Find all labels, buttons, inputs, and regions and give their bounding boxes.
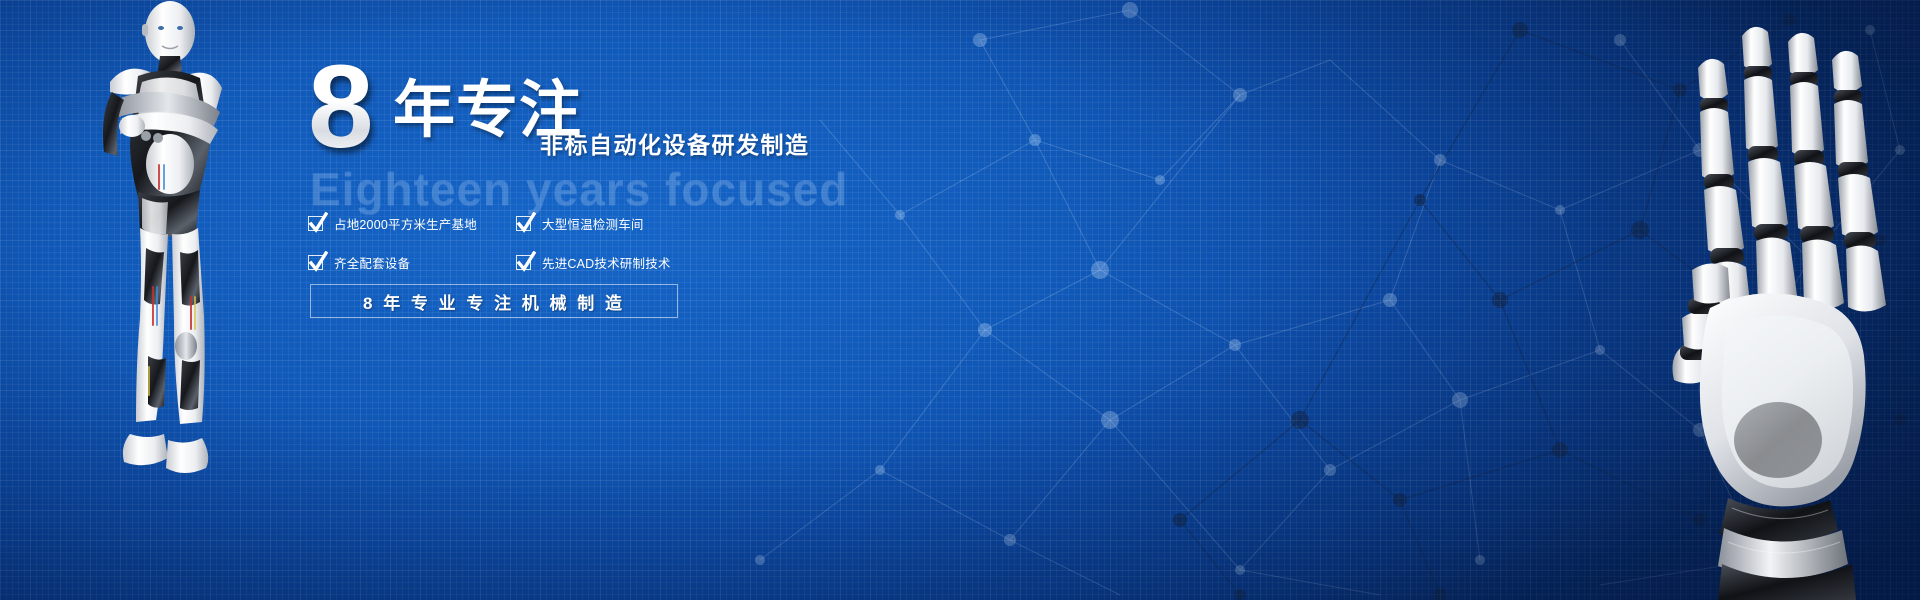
slogan-box: 8 年 专 业 专 注 机 械 制 造	[310, 284, 678, 318]
banner-text-content: 8 年专注 非标自动化设备研发制造 Eighteen years focused…	[308, 66, 1028, 152]
check-icon	[308, 216, 323, 231]
feature-column-right: 大型恒温检测车间 先进CAD技术研制技术	[516, 208, 671, 286]
humanoid-robot-figure	[72, 0, 262, 482]
list-item: 先进CAD技术研制技术	[516, 247, 671, 278]
hero-banner: 8 年专注 非标自动化设备研发制造 Eighteen years focused…	[0, 0, 1920, 600]
list-item: 齐全配套设备	[308, 247, 477, 278]
headline-subtitle: 非标自动化设备研发制造	[540, 126, 810, 160]
check-icon	[516, 216, 531, 231]
feature-label: 占地2000平方米生产基地	[334, 214, 477, 233]
list-item: 占地2000平方米生产基地	[308, 208, 477, 239]
robotic-hand-figure	[1666, 8, 1916, 600]
check-icon	[308, 255, 323, 270]
feature-label: 大型恒温检测车间	[542, 214, 644, 233]
slogan-text: 8 年 专 业 专 注 机 械 制 造	[363, 289, 625, 314]
feature-column-left: 占地2000平方米生产基地 齐全配套设备	[308, 208, 477, 286]
list-item: 大型恒温检测车间	[516, 208, 671, 239]
headline-group: 8 年专注 非标自动化设备研发制造 Eighteen years focused	[308, 66, 1028, 152]
check-icon	[516, 255, 531, 270]
headline-number: 8	[308, 48, 372, 166]
feature-label: 齐全配套设备	[334, 253, 410, 272]
feature-label: 先进CAD技术研制技术	[542, 253, 671, 272]
